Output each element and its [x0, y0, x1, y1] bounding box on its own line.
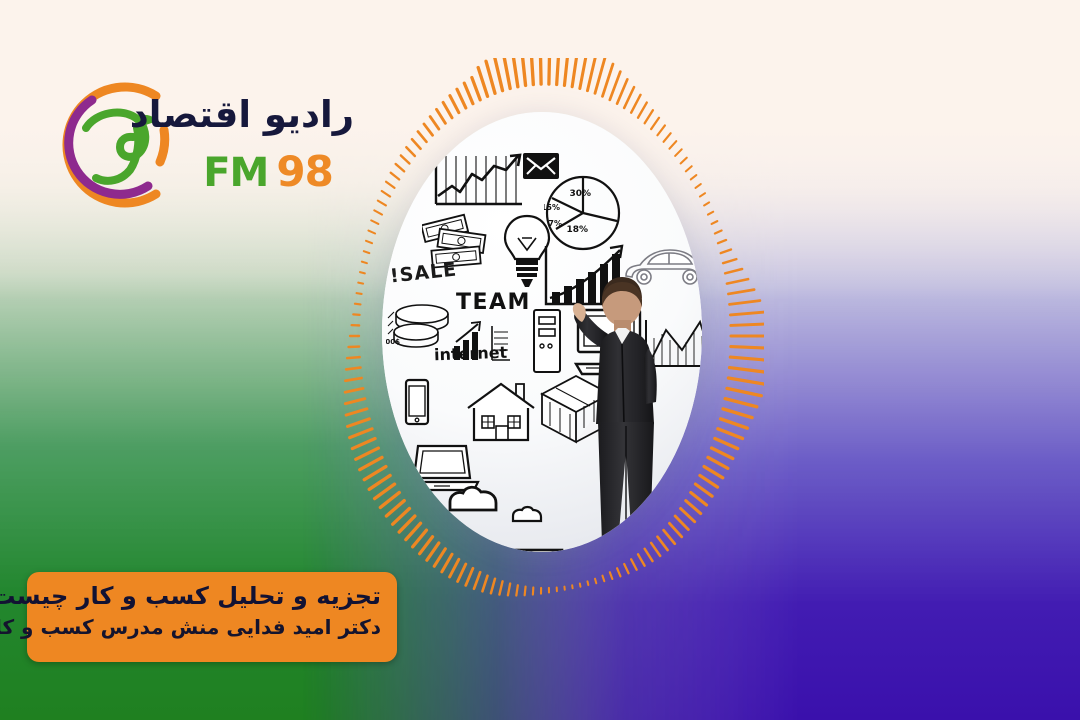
caption-title: تجزیه و تحلیل کسب و کار چیست؟	[43, 581, 381, 611]
internet-text-doodle: internet	[434, 343, 508, 365]
logo-mark-icon	[52, 66, 182, 226]
house-doodle	[464, 380, 538, 444]
logo-text-block: رادیو اقتصاد FM98	[182, 70, 354, 230]
frequency-value: 98	[276, 147, 332, 196]
line-chart-doodle	[432, 150, 524, 208]
caption-subtitle: دکتر امید فدایی منش مدرس کسب و کار	[43, 614, 381, 640]
svg-text:18%: 18%	[566, 225, 588, 235]
svg-text:15%: 15%	[544, 203, 560, 212]
svg-text:1000$: 1000$	[386, 338, 400, 346]
band-label: FM	[203, 150, 268, 196]
pie-chart-doodle: 30% 15% 7% 18%	[544, 174, 622, 252]
businessman-photo	[560, 274, 678, 552]
cloud-doodle	[446, 484, 502, 514]
svg-text:30%: 30%	[569, 189, 591, 199]
hero-image-circle: 30% 15% 7% 18%	[382, 112, 702, 552]
caption-box: تجزیه و تحلیل کسب و کار چیست؟ دکتر امید …	[27, 572, 397, 662]
station-logo[interactable]: رادیو اقتصاد FM98	[52, 62, 352, 237]
smartphone-doodle	[404, 378, 430, 426]
server-tower-doodle	[532, 308, 562, 374]
station-name: رادیو اقتصاد	[182, 96, 354, 133]
frequency-line: FM98	[182, 147, 354, 196]
cloud-doodle	[510, 504, 544, 524]
team-text-doodle: TEAM	[456, 290, 531, 315]
broadcast-promo-graphic: 30% 15% 7% 18%	[0, 0, 1080, 720]
